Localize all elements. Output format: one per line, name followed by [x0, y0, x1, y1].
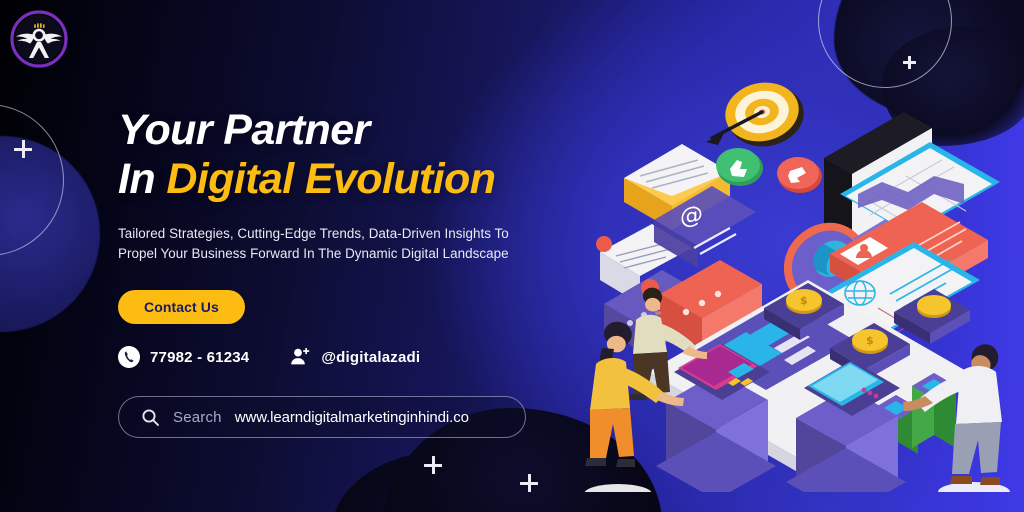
- svg-text:@: @: [680, 201, 703, 231]
- contact-row: 77982 - 61234 @digitalazadi: [118, 346, 588, 368]
- headline-line-2: In Digital Evolution: [118, 157, 588, 201]
- social-handle: @digitalazadi: [321, 349, 420, 366]
- brand-logo[interactable]: [6, 8, 72, 70]
- hero-subtitle: Tailored Strategies, Cutting-Edge Trends…: [118, 224, 588, 265]
- phone-number: 77982 - 61234: [150, 349, 249, 366]
- social-contact[interactable]: @digitalazadi: [289, 346, 420, 368]
- decor-ring-left: [0, 104, 64, 256]
- headline-highlight: Digital Evolution: [166, 155, 495, 203]
- search-input[interactable]: www.learndigitalmarketinginhindi.co: [235, 409, 469, 426]
- search-icon: [141, 408, 160, 427]
- svg-text:$: $: [866, 334, 874, 347]
- search-bar[interactable]: Search www.learndigitalmarketinginhindi.…: [118, 396, 526, 438]
- winged-figure-logo-icon: [6, 8, 72, 70]
- person-add-icon: [289, 346, 311, 368]
- plus-icon-bottom-left: [424, 456, 442, 474]
- decor-ring-bottom: [418, 426, 596, 512]
- hero-banner: Your Partner In Digital Evolution Tailor…: [0, 0, 1024, 512]
- plus-icon-bottom-right: [520, 474, 538, 492]
- subtitle-line-2: Propel Your Business Forward In The Dyna…: [118, 246, 509, 261]
- contact-us-button[interactable]: Contact Us: [118, 290, 245, 324]
- hero-content: Your Partner In Digital Evolution Tailor…: [118, 108, 588, 438]
- page-title: Your Partner In Digital Evolution: [118, 108, 588, 202]
- plus-icon-top-right: [903, 56, 916, 69]
- headline-line-2-prefix: In: [118, 155, 166, 203]
- dartboard-target-icon: [720, 76, 810, 153]
- phone-icon: [118, 346, 140, 368]
- headline-line-1: Your Partner: [118, 106, 370, 154]
- plus-icon-left: [14, 140, 32, 158]
- subtitle-line-1: Tailored Strategies, Cutting-Edge Trends…: [118, 226, 509, 241]
- hero-illustration: @: [578, 72, 1024, 492]
- decor-blob-bottom-2: [330, 452, 520, 512]
- phone-contact[interactable]: 77982 - 61234: [118, 346, 249, 368]
- search-placeholder-label: Search: [173, 409, 222, 426]
- thumbs-down-icon: [777, 157, 822, 193]
- decor-circle-left-filled: [0, 136, 100, 332]
- svg-text:$: $: [800, 294, 808, 307]
